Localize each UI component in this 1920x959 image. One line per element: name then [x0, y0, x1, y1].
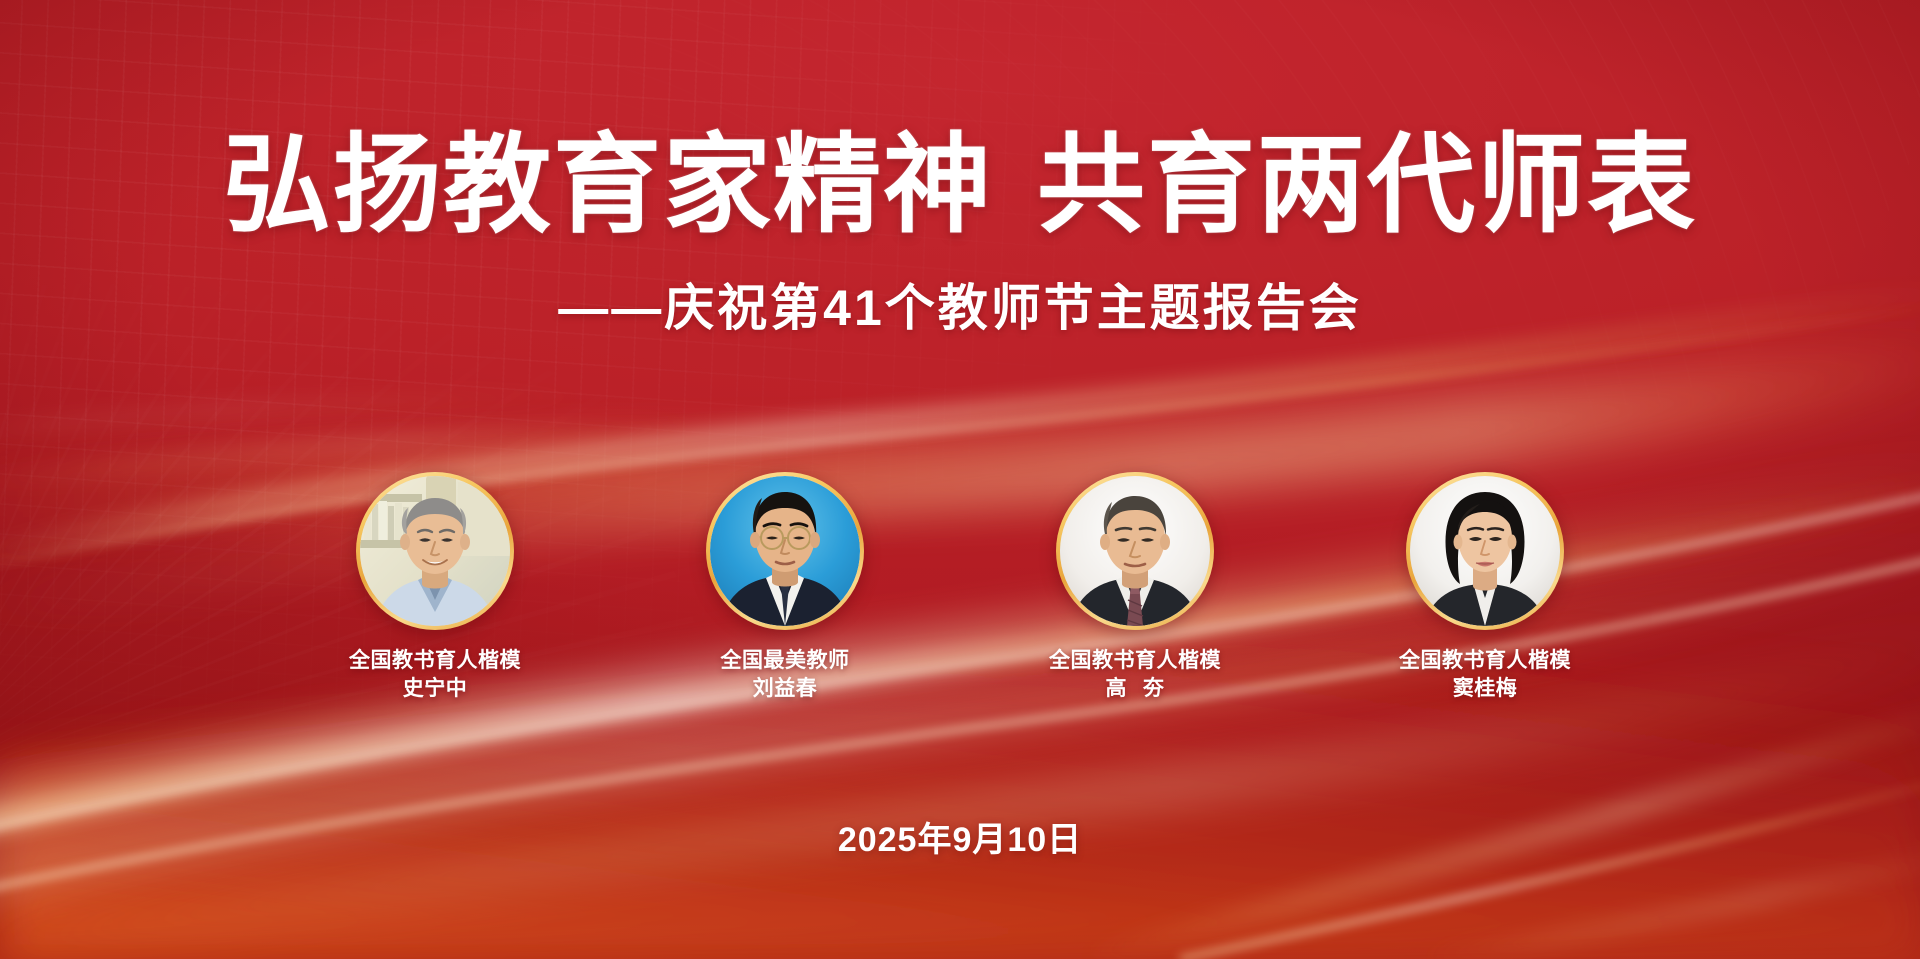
honoree-name-suffix: 夯: [1143, 677, 1165, 700]
honoree-caption: 全国教书育人楷模 史宁中: [349, 647, 521, 702]
portrait-ring: [1406, 472, 1564, 630]
portrait-photo: [1060, 476, 1210, 626]
portrait-shi-ningzhong-icon: [360, 476, 510, 626]
portrait-liu-yichun-icon: [710, 476, 860, 626]
honoree-list: 全国教书育人楷模 史宁中: [0, 472, 1920, 702]
portrait-ring: [1056, 472, 1214, 630]
portrait-photo: [360, 476, 510, 626]
honoree-item: 全国教书育人楷模 窦桂梅: [1385, 472, 1585, 702]
portrait-photo: [1410, 476, 1560, 626]
honoree-caption: 全国最美教师 刘益春: [721, 647, 850, 702]
honoree-honor: 全国教书育人楷模: [1399, 649, 1571, 672]
portrait-ring: [706, 472, 864, 630]
honoree-name-prefix: 高: [1106, 677, 1128, 700]
honoree-item: 全国教书育人楷模 高夯: [1035, 472, 1235, 702]
honoree-caption: 全国教书育人楷模 高夯: [1049, 647, 1221, 702]
honoree-honor: 全国最美教师: [721, 649, 850, 672]
portrait-dou-guimei-icon: [1410, 476, 1560, 626]
honoree-item: 全国最美教师 刘益春: [685, 472, 885, 702]
title-line-a: 弘扬教育家精神: [223, 122, 993, 248]
title-line-b: 共育两代师表: [1037, 122, 1697, 248]
portrait-gao-hang-icon: [1060, 476, 1210, 626]
portrait-photo: [710, 476, 860, 626]
portrait-ring: [356, 472, 514, 630]
honoree-caption: 全国教书育人楷模 窦桂梅: [1399, 647, 1571, 702]
honoree-honor: 全国教书育人楷模: [349, 649, 521, 672]
honoree-name: 史宁中: [349, 675, 521, 703]
honoree-name: 刘益春: [721, 675, 850, 703]
event-date: 2025年9月10日: [0, 812, 1920, 861]
page-subtitle: ——庆祝第41个教师节主题报告会: [0, 268, 1920, 340]
honoree-name: 窦桂梅: [1399, 675, 1571, 703]
honoree-honor: 全国教书育人楷模: [1049, 649, 1221, 672]
honoree-item: 全国教书育人楷模 史宁中: [335, 472, 535, 702]
page-title: 弘扬教育家精神共育两代师表: [0, 128, 1920, 242]
honoree-name: 高夯: [1049, 675, 1221, 703]
title-block: 弘扬教育家精神共育两代师表 ——庆祝第41个教师节主题报告会: [0, 128, 1920, 340]
conference-backdrop: 弘扬教育家精神共育两代师表 ——庆祝第41个教师节主题报告会: [0, 0, 1920, 959]
